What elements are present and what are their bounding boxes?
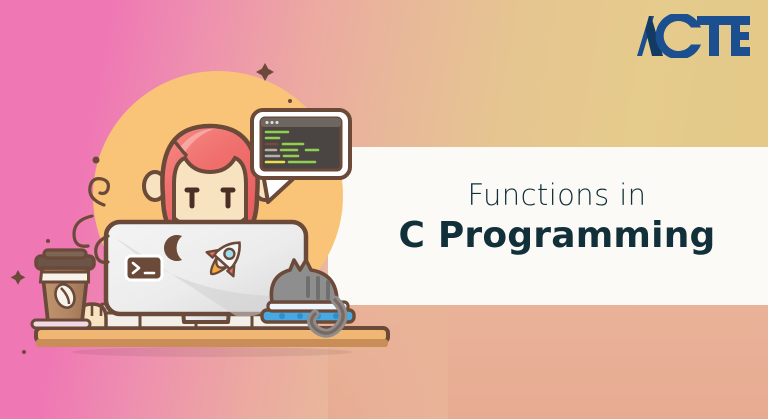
acte-logo xyxy=(625,14,750,58)
desk-shadow xyxy=(72,347,352,357)
acte-logo-letter-e xyxy=(731,16,750,56)
terminal-sticker xyxy=(126,256,162,280)
dot-icon xyxy=(288,99,292,103)
dot-icon xyxy=(93,157,100,164)
dot-icon xyxy=(22,350,26,354)
page-title-line-2: C Programming xyxy=(392,214,722,257)
acte-logo-letter-t xyxy=(697,16,731,56)
coffee-sleeve xyxy=(41,272,89,282)
acte-course-banner: Functions in C Programming xyxy=(0,0,768,419)
desk-edge xyxy=(36,339,388,347)
sparkle-icon xyxy=(11,270,26,285)
coffee-coaster xyxy=(32,320,90,328)
developer-at-desk-illustration xyxy=(0,0,420,419)
coffee-lid-top xyxy=(44,250,86,258)
page-title-line-1: Functions in xyxy=(392,178,722,212)
banner-title: Functions in C Programming xyxy=(392,178,722,257)
coffee-cup xyxy=(32,250,94,328)
bubble-window-dots xyxy=(266,121,279,124)
acte-logo-letter-c xyxy=(656,14,701,58)
dot-icon xyxy=(46,239,50,243)
